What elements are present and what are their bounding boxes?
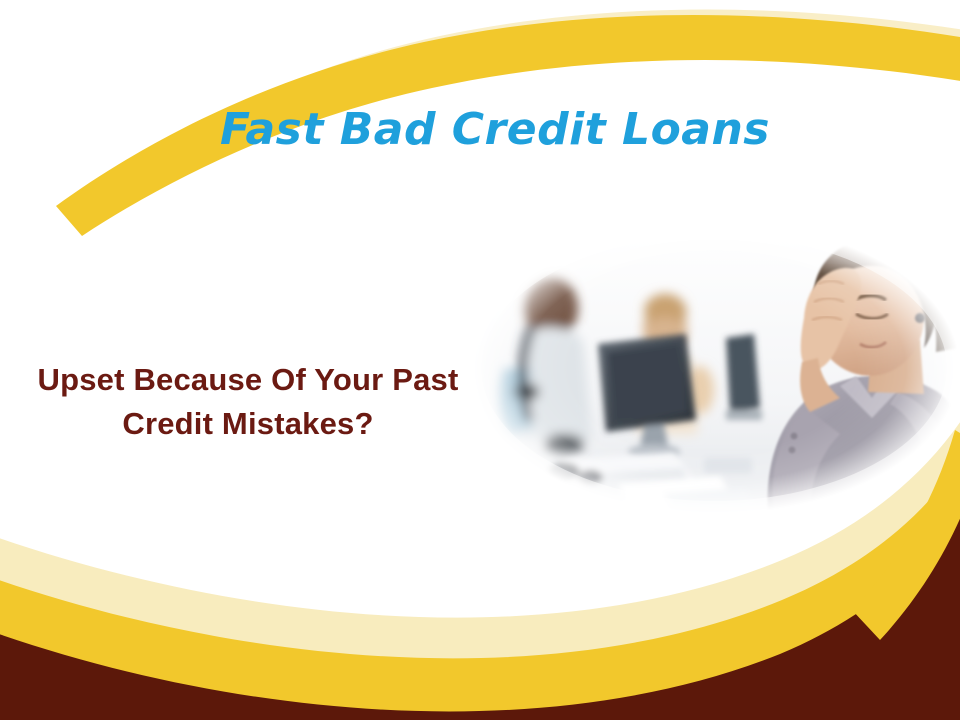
subtitle-line-1: Upset Because Of Your Past [8, 358, 488, 402]
hero-photo-image [468, 222, 960, 514]
page-title-text: Fast Bad Credit Loans [220, 104, 770, 155]
hero-photo [468, 222, 960, 514]
subtitle: Upset Because Of Your Past Credit Mistak… [8, 358, 488, 446]
page-title: Fast Bad Credit Loans [0, 104, 960, 157]
subtitle-line-2: Credit Mistakes? [8, 402, 488, 446]
slide-canvas: Fast Bad Credit Loans Upset Because Of Y… [0, 0, 960, 720]
